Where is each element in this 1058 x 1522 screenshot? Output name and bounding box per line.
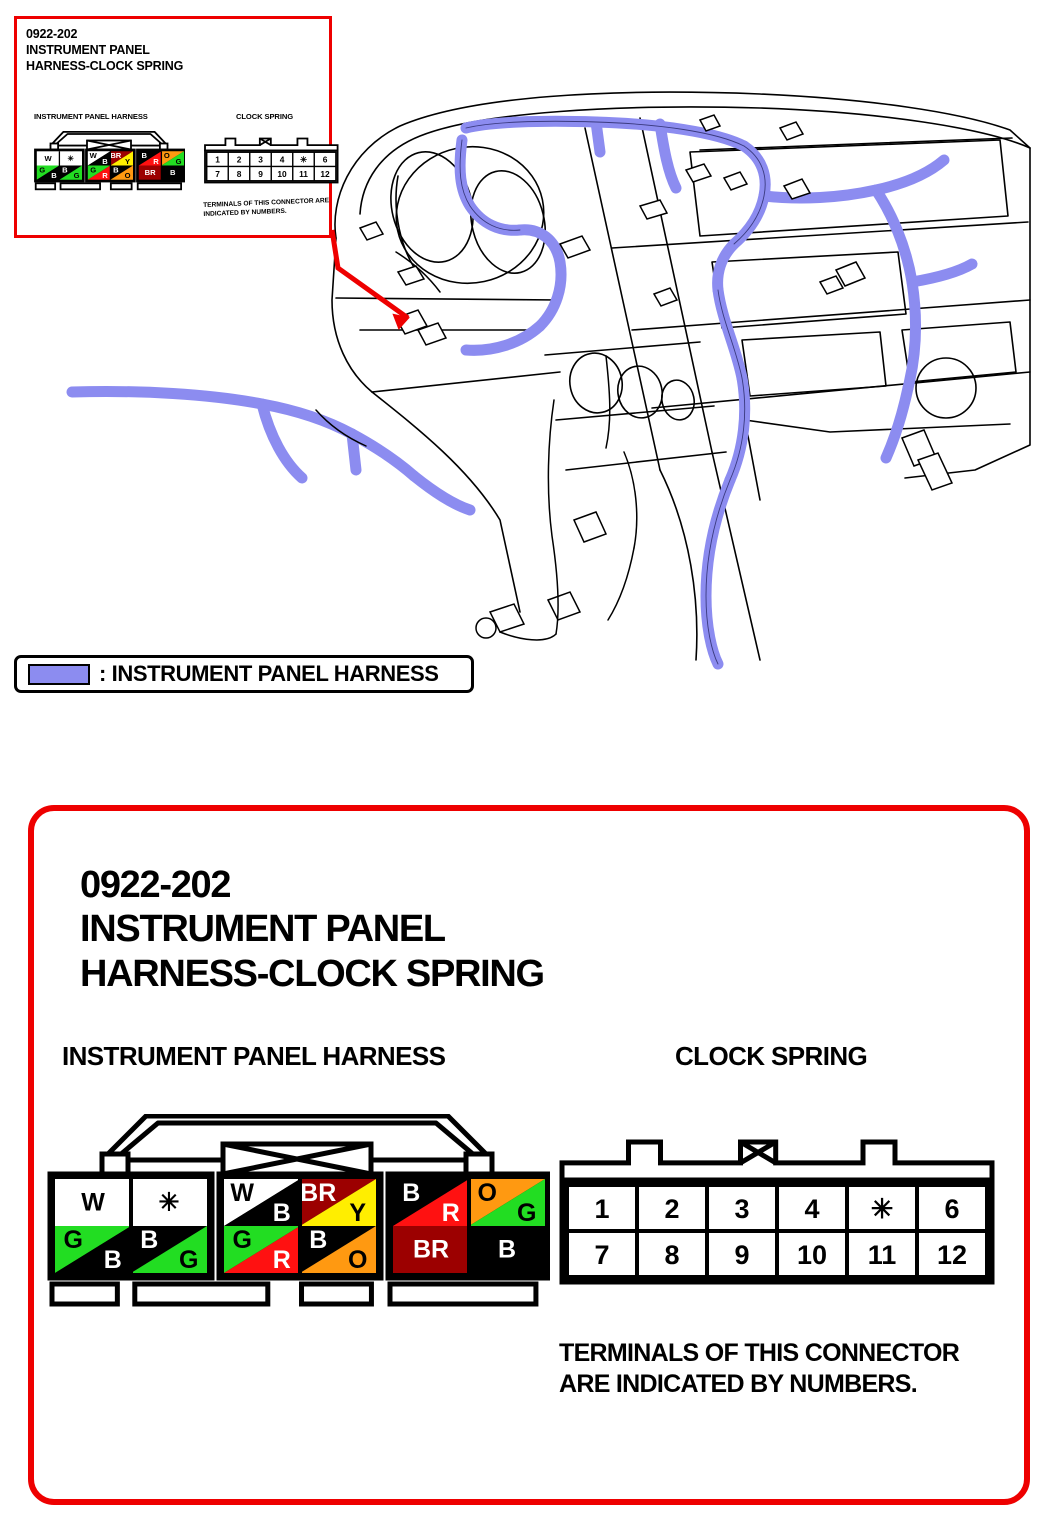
wire-label-secondary: B xyxy=(273,1199,291,1227)
wire-label-primary: B xyxy=(140,1226,158,1254)
wire-label-primary: O xyxy=(164,151,170,160)
terminal-number: 10 xyxy=(797,1240,827,1270)
detail-subtitle-clock-spring: CLOCK SPRING xyxy=(675,1041,867,1072)
wire-label-primary: G xyxy=(64,1226,83,1254)
wire-label-secondary: G xyxy=(179,1246,198,1274)
wire-label-secondary: O xyxy=(348,1246,367,1274)
wire-label: B xyxy=(498,1236,516,1264)
wire-label-secondary: B xyxy=(104,1246,122,1274)
mini-instrument-panel-harness-connector: W✳GBBGWBBRYGRBOBROGBRB xyxy=(33,131,185,195)
terminal-number: 3 xyxy=(258,155,263,165)
inset-title: 0922-202 INSTRUMENT PANEL HARNESS-CLOCK … xyxy=(26,26,183,74)
wire-label-secondary: R xyxy=(273,1246,291,1274)
inset-subtitle-clock-spring: CLOCK SPRING xyxy=(236,112,293,121)
wire-label-secondary: R xyxy=(442,1199,460,1227)
terminal-number: 4 xyxy=(804,1194,819,1224)
wire-label: B xyxy=(170,168,176,177)
instrument-panel-harness-connector: W✳GBBGWBBRYGRBOBROGBRB xyxy=(44,1114,550,1324)
wire-label-secondary: B xyxy=(51,171,57,180)
leader-line xyxy=(332,230,408,318)
inset-subtitle-harness: INSTRUMENT PANEL HARNESS xyxy=(34,112,148,121)
terminal-number: 10 xyxy=(277,169,287,179)
wire-label: BR xyxy=(145,168,156,177)
terminal-number: 3 xyxy=(734,1194,749,1224)
legend-label: : INSTRUMENT PANEL HARNESS xyxy=(99,661,439,687)
wire-label-secondary: B xyxy=(102,157,108,166)
wire-label-secondary: Y xyxy=(125,157,130,166)
clock-spring-connector: 1234✳6789101112 xyxy=(556,1136,1016,1316)
terminal-number: 11 xyxy=(868,1240,897,1270)
terminal-number: 1 xyxy=(215,155,220,165)
harness-outline xyxy=(460,121,765,664)
wire-label: W xyxy=(81,1189,105,1217)
wire-label-primary: W xyxy=(230,1179,254,1207)
terminal-number: 12 xyxy=(937,1240,967,1270)
wire-label: W xyxy=(45,154,53,163)
detail-subtitle-harness: INSTRUMENT PANEL HARNESS xyxy=(62,1041,445,1072)
wire-label-primary: G xyxy=(233,1226,252,1254)
wire-label-primary: BR xyxy=(110,151,121,160)
terminal-number: 1 xyxy=(594,1194,609,1224)
terminal-number: 11 xyxy=(299,169,308,179)
detail-callout-box: 0922-202 INSTRUMENT PANEL HARNESS-CLOCK … xyxy=(28,805,1030,1505)
wire-label-primary: B xyxy=(62,165,68,174)
wire-label-primary: G xyxy=(39,165,45,174)
terminal-number: 6 xyxy=(944,1194,959,1224)
wire-label-primary: W xyxy=(90,151,98,160)
wire-label-secondary: G xyxy=(176,157,182,166)
terminal-number: 7 xyxy=(215,169,220,179)
wire-label: ✳ xyxy=(159,1189,180,1217)
terminal-number: ✳ xyxy=(300,155,307,165)
wire-label-primary: BR xyxy=(300,1179,336,1207)
detail-terminals-note: TERMINALS OF THIS CONNECTOR ARE INDICATE… xyxy=(559,1338,1029,1399)
terminal-number: 4 xyxy=(280,155,285,165)
wire-label-secondary: O xyxy=(125,171,131,180)
terminal-number: 7 xyxy=(594,1240,609,1270)
terminal-number: 9 xyxy=(734,1240,749,1270)
wire-label-secondary: R xyxy=(102,171,108,180)
loose-wires xyxy=(316,252,637,640)
terminal-number: 2 xyxy=(237,155,242,165)
wire-label-secondary: G xyxy=(74,171,80,180)
terminal-number: 12 xyxy=(320,169,330,179)
detail-title: 0922-202 INSTRUMENT PANEL HARNESS-CLOCK … xyxy=(80,863,544,996)
terminal-number: 6 xyxy=(323,155,328,165)
inset-callout-box: 0922-202 INSTRUMENT PANEL HARNESS-CLOCK … xyxy=(14,16,332,238)
wire-label-primary: G xyxy=(90,165,96,174)
wire-label-secondary: Y xyxy=(349,1199,366,1227)
wire-label-secondary: R xyxy=(153,157,159,166)
terminal-number: 2 xyxy=(664,1194,679,1224)
terminal-number: 8 xyxy=(237,169,242,179)
wire-label: ✳ xyxy=(68,154,75,163)
wire-label-primary: B xyxy=(309,1226,327,1254)
wire-label-primary: O xyxy=(478,1179,497,1207)
wire-label-primary: B xyxy=(113,165,119,174)
wire-label-primary: B xyxy=(402,1179,420,1207)
inset-terminals-note: TERMINALS OF THIS CONNECTOR ARE INDICATE… xyxy=(203,196,354,220)
terminal-number: 9 xyxy=(258,169,263,179)
terminal-number: ✳ xyxy=(871,1194,894,1224)
harness-color-swatch xyxy=(28,664,90,685)
mini-clock-spring-connector: 1234✳6789101112 xyxy=(203,137,346,193)
wire-label-primary: B xyxy=(141,151,147,160)
wire-label-secondary: G xyxy=(517,1199,536,1227)
terminal-number: 8 xyxy=(664,1240,679,1270)
wire-label: BR xyxy=(413,1236,449,1264)
legend-box: : INSTRUMENT PANEL HARNESS xyxy=(14,655,474,693)
